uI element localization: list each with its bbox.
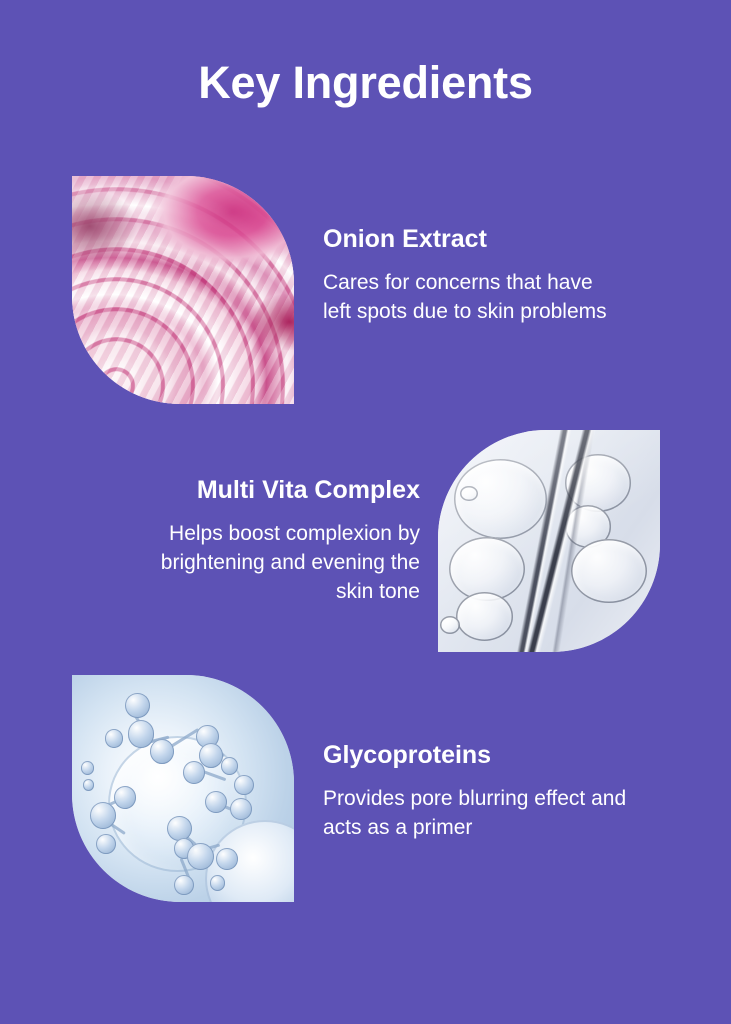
ingredients-infographic: Key Ingredients Onion Extract Cares for … xyxy=(0,0,731,1024)
ingredient-image-onion-extract xyxy=(72,176,294,404)
page-title: Key Ingredients xyxy=(0,57,731,109)
molecule-atom xyxy=(210,875,226,891)
molecule-atom xyxy=(150,739,174,764)
molecule-atom xyxy=(83,779,94,790)
ingredient-text-glycoproteins: Glycoproteins Provides pore blurring eff… xyxy=(323,740,653,842)
ingredient-image-multi-vita-complex xyxy=(438,430,660,652)
molecule-atom xyxy=(174,875,194,895)
onion-photo-sheen xyxy=(72,176,294,404)
molecule-atom xyxy=(187,843,214,870)
molecule-atom xyxy=(128,720,155,747)
molecule-atom xyxy=(125,693,149,718)
molecule-atom xyxy=(167,816,191,841)
molecule-atom xyxy=(81,761,94,775)
ingredient-text-onion-extract: Onion Extract Cares for concerns that ha… xyxy=(323,224,623,326)
ingredient-description-multi-vita-complex: Helps boost complexion by brightening an… xyxy=(120,519,420,606)
ingredient-name-onion-extract: Onion Extract xyxy=(323,224,623,254)
gel-photo-sheen xyxy=(438,430,660,652)
ingredient-name-glycoproteins: Glycoproteins xyxy=(323,740,653,770)
molecule-atom xyxy=(183,761,205,784)
ingredient-image-glycoproteins xyxy=(72,675,294,902)
molecule-atom xyxy=(230,798,252,821)
molecule-atom xyxy=(105,729,123,747)
ingredient-description-glycoproteins: Provides pore blurring effect and acts a… xyxy=(323,784,653,842)
ingredient-description-onion-extract: Cares for concerns that have left spots … xyxy=(323,268,623,326)
ingredient-text-multi-vita-complex: Multi Vita Complex Helps boost complexio… xyxy=(120,475,420,606)
ingredient-name-multi-vita-complex: Multi Vita Complex xyxy=(120,475,420,505)
